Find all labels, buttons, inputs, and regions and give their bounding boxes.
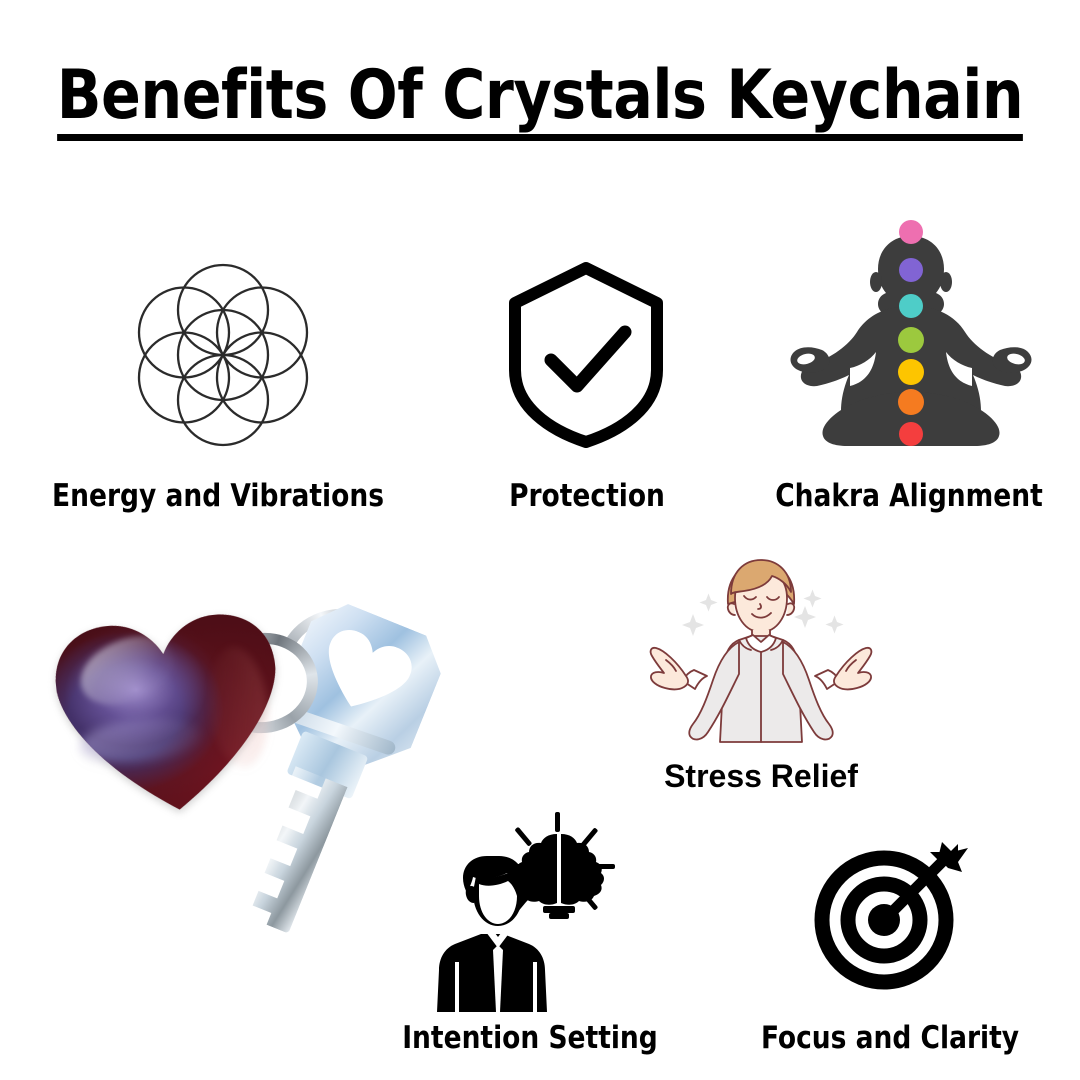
benefit-label-focus-and-clarity: Focus and Clarity bbox=[748, 1020, 1033, 1056]
infographic-canvas: Benefits Of Crystals Keychain Energy and… bbox=[0, 0, 1080, 1080]
heart-crystal-charm bbox=[50, 609, 289, 826]
benefit-label-chakra-alignment: Chakra Alignment bbox=[747, 478, 1072, 514]
benefit-label-energy-and-vibrations: Energy and Vibrations bbox=[11, 478, 425, 514]
benefit-chakra-alignment bbox=[738, 222, 1080, 462]
seed-of-life-icon bbox=[128, 260, 318, 450]
page-title-text: Benefits Of Crystals Keychain bbox=[57, 62, 1024, 141]
benefit-label-intention-setting: Intention Setting bbox=[388, 1020, 673, 1056]
shield-check-icon bbox=[505, 260, 667, 450]
benefit-label-stress-relief: Stress Relief bbox=[636, 758, 886, 795]
person-with-brain-icon bbox=[435, 812, 625, 1012]
benefit-energy-and-vibrations bbox=[0, 250, 436, 450]
benefit-label-protection: Protection bbox=[445, 478, 730, 514]
meditating-man-illustration bbox=[636, 552, 886, 742]
page-title: Benefits Of Crystals Keychain bbox=[22, 62, 1059, 141]
benefit-protection bbox=[437, 250, 737, 450]
meditating-figure-chakras-icon bbox=[776, 222, 1046, 454]
target-arrow-icon bbox=[812, 838, 972, 998]
